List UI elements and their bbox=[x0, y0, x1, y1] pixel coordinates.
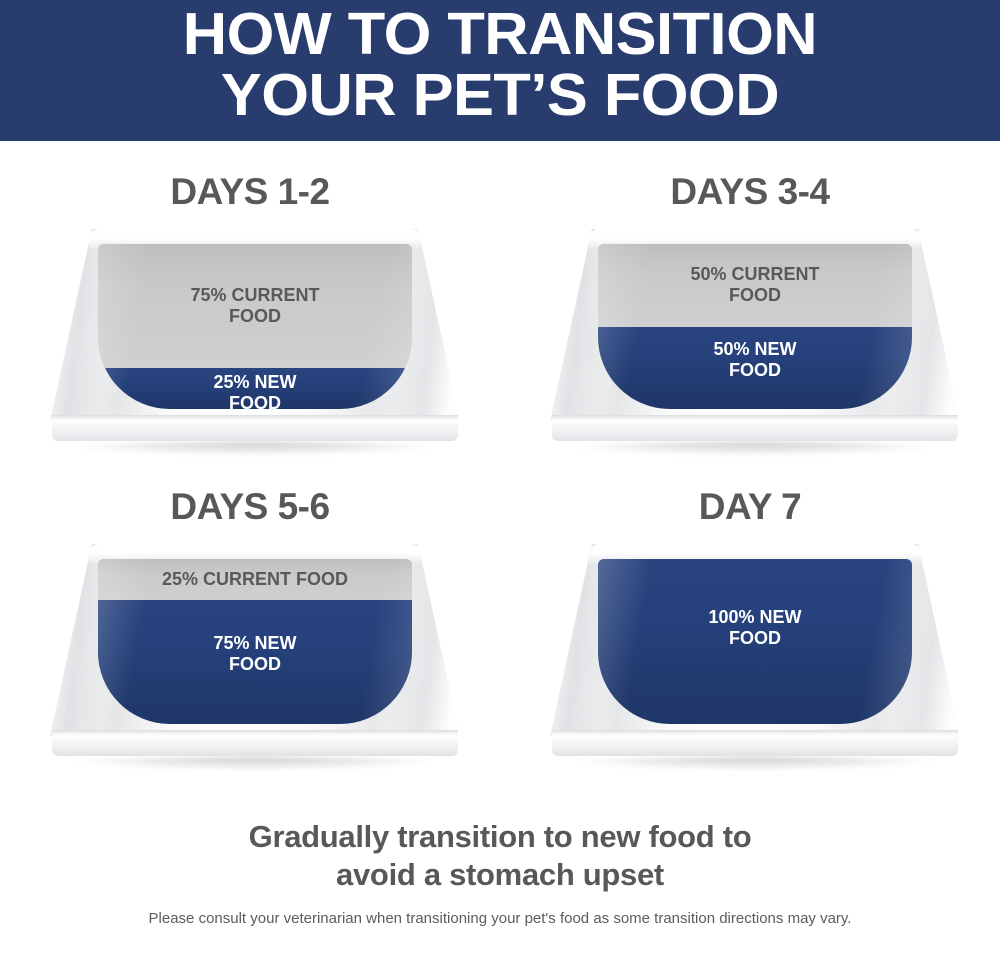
bowl-cavity bbox=[98, 559, 412, 724]
step-card-day-7: DAY 7 100% NEW FOOD bbox=[500, 486, 1000, 816]
transition-steps-grid: DAYS 1-2 75% CURRENT FOOD 25% NEW FOOD D… bbox=[0, 141, 1000, 811]
step-title-1: DAYS 1-2 bbox=[0, 171, 500, 213]
bowl-base bbox=[52, 415, 458, 441]
new-food-fill bbox=[598, 327, 912, 410]
bowl-cavity bbox=[98, 244, 412, 409]
new-food-fill bbox=[98, 600, 412, 724]
current-food-fill bbox=[98, 244, 412, 368]
current-food-fill bbox=[98, 559, 412, 600]
bowl-base bbox=[552, 730, 958, 756]
bowl-shadow bbox=[68, 757, 442, 770]
bowl-cavity bbox=[598, 244, 912, 409]
step-title-2: DAYS 3-4 bbox=[500, 171, 1000, 213]
new-food-fill bbox=[598, 559, 912, 724]
bowl-shadow bbox=[568, 757, 942, 770]
food-bowl-1: 75% CURRENT FOOD 25% NEW FOOD bbox=[50, 229, 460, 449]
step-title-3: DAYS 5-6 bbox=[0, 486, 500, 528]
bowl-cavity bbox=[598, 559, 912, 724]
step-card-days-3-4: DAYS 3-4 50% CURRENT FOOD 50% NEW FOOD bbox=[500, 171, 1000, 501]
step-card-days-5-6: DAYS 5-6 25% CURRENT FOOD 75% NEW FOOD bbox=[0, 486, 500, 816]
step-title-4: DAY 7 bbox=[500, 486, 1000, 528]
step-card-days-1-2: DAYS 1-2 75% CURRENT FOOD 25% NEW FOOD bbox=[0, 171, 500, 501]
tagline: Gradually transition to new food to avoi… bbox=[0, 818, 1000, 894]
current-food-fill bbox=[598, 244, 912, 327]
new-food-fill bbox=[98, 368, 412, 409]
food-bowl-4: 100% NEW FOOD bbox=[550, 544, 960, 764]
bowl-base bbox=[552, 415, 958, 441]
page-title: HOW TO TRANSITION YOUR PET’S FOOD bbox=[183, 4, 817, 126]
disclaimer: Please consult your veterinarian when tr… bbox=[0, 909, 1000, 928]
food-bowl-2: 50% CURRENT FOOD 50% NEW FOOD bbox=[550, 229, 960, 449]
bowl-shadow bbox=[68, 442, 442, 455]
food-bowl-3: 25% CURRENT FOOD 75% NEW FOOD bbox=[50, 544, 460, 764]
bowl-shadow bbox=[568, 442, 942, 455]
header-banner: HOW TO TRANSITION YOUR PET’S FOOD bbox=[0, 0, 1000, 141]
bowl-base bbox=[52, 730, 458, 756]
